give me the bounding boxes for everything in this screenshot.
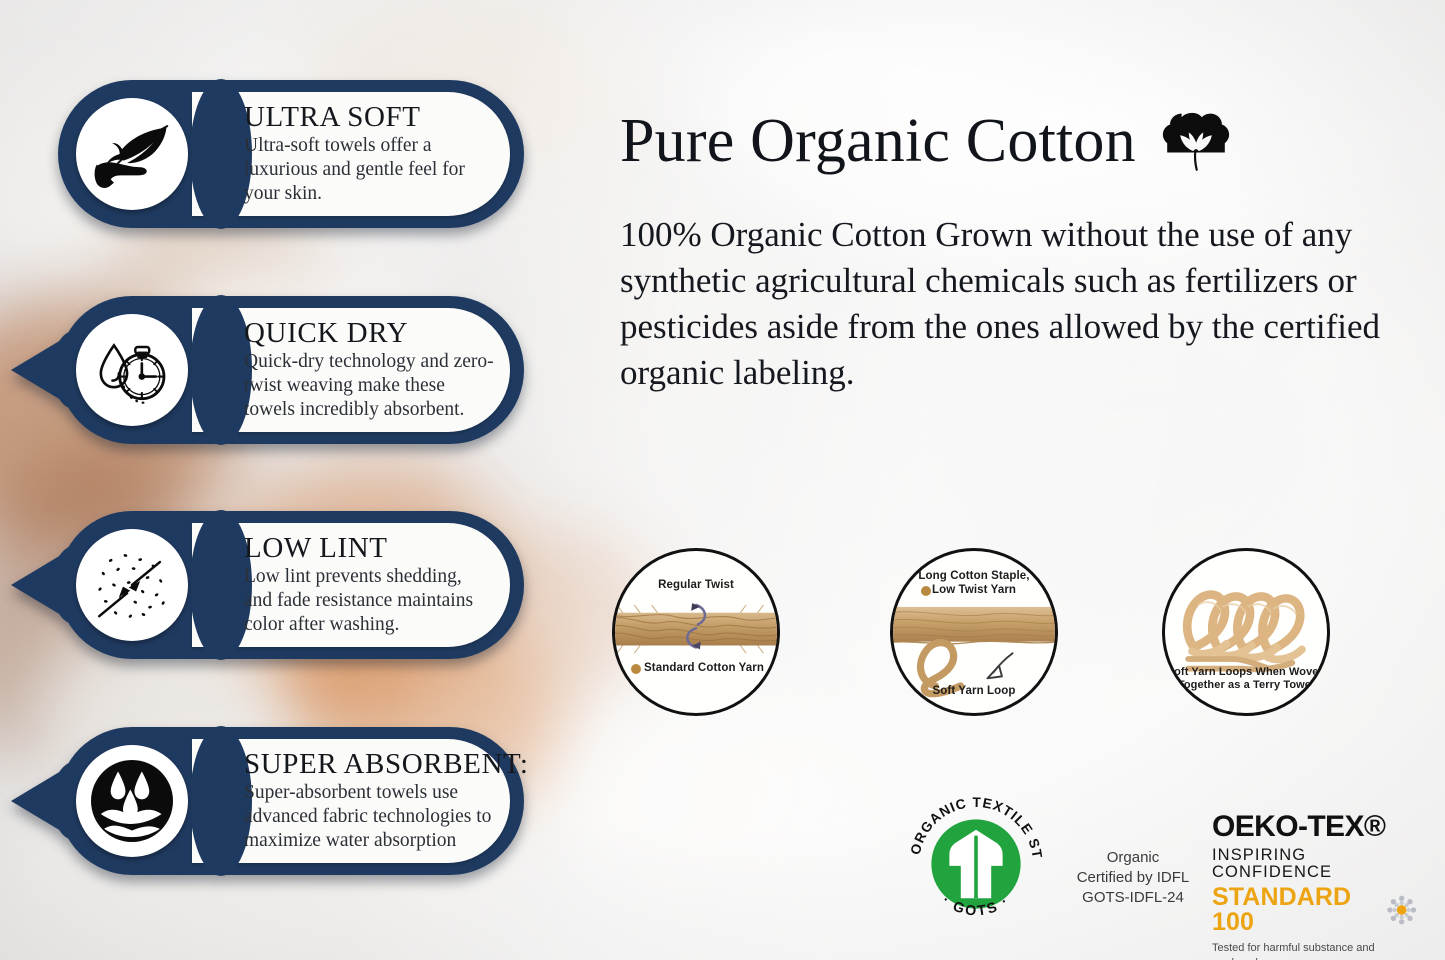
feature-card-shell: LOW LINT Low lint prevents shedding, and… <box>58 511 524 659</box>
oeko-subtitle: INSPIRING CONFIDENCE <box>1212 847 1417 880</box>
oeko-standard-row: STANDARD 100 <box>1212 885 1417 935</box>
oeko-standard-label: STANDARD 100 <box>1212 885 1386 935</box>
feature-card-shell: ULTRA SOFT Ultra-soft towels offer a lux… <box>58 80 524 228</box>
feature-title: QUICK DRY <box>244 318 494 348</box>
feather-in-hand-icon <box>76 98 188 210</box>
cotton-boll-icon <box>1158 105 1234 177</box>
feature-description: Ultra-soft towels offer a luxurious and … <box>244 134 494 206</box>
feature-description: Super-absorbent towels use advanced fabr… <box>244 781 494 853</box>
feature-card-shell: QUICK DRY Quick-dry technology and zero-… <box>58 296 524 444</box>
made-in-green-flower-icon <box>1386 893 1417 927</box>
feature-description: Quick-dry technology and zero-twist weav… <box>244 350 494 422</box>
gots-seal-icon: GLOBAL ORGANIC TEXTILE STANDARD · GOTS · <box>900 788 1052 940</box>
oeko-fine-line1: Tested for harmful substance and produce… <box>1212 941 1417 960</box>
page-title: Pure Organic Cotton <box>620 110 1136 172</box>
droplet-stopwatch-icon <box>76 314 188 426</box>
yarn-diagram-terry-loops: Soft Yarn Loops When Woven Together as a… <box>1162 548 1330 716</box>
yarn-bottom-label: Soft Yarn Loops When Woven Together as a… <box>1165 666 1327 693</box>
infographic-canvas: ULTRA SOFT Ultra-soft towels offer a lux… <box>0 0 1445 960</box>
lint-particles-arrows-icon <box>76 529 188 641</box>
yarn-bottom-label: Soft Yarn Loop <box>893 684 1055 698</box>
feature-card-panel: LOW LINT Low lint prevents shedding, and… <box>192 523 510 647</box>
yarn-top-label-line1: Long Cotton Staple, <box>893 569 1055 583</box>
feature-card-super-absorbent: SUPER ABSORBENT: Super-absorbent towels … <box>58 727 524 875</box>
feature-card-panel: ULTRA SOFT Ultra-soft towels offer a lux… <box>192 92 510 216</box>
gots-caption-line3: GOTS-IDFL-24 <box>1058 888 1208 908</box>
gots-certification-caption: Organic Certified by IDFL GOTS-IDFL-24 <box>1058 848 1208 907</box>
oeko-tex-badge: OEKO-TEX® INSPIRING CONFIDENCE STANDARD … <box>1212 812 1417 960</box>
yarn-diagram-row: Regular Twist Standard Cotton Yarn <box>612 548 1342 720</box>
feature-card-ultra-soft: ULTRA SOFT Ultra-soft towels offer a lux… <box>58 80 524 228</box>
oeko-title: OEKO-TEX® <box>1212 812 1417 842</box>
feature-card-panel: SUPER ABSORBENT: Super-absorbent towels … <box>192 739 510 863</box>
yarn-diagram-low-twist: Long Cotton Staple, Low Twist Yarn Soft … <box>890 548 1058 716</box>
yarn-top-label: Long Cotton Staple, Low Twist Yarn <box>893 569 1055 597</box>
oeko-fine-print: Tested for harmful substance and produce… <box>1212 941 1417 960</box>
feature-card-quick-dry: QUICK DRY Quick-dry technology and zero-… <box>58 296 524 444</box>
feature-description: Low lint prevents shedding, and fade res… <box>244 565 494 637</box>
feature-card-shell: SUPER ABSORBENT: Super-absorbent towels … <box>58 727 524 875</box>
feature-card-panel: QUICK DRY Quick-dry technology and zero-… <box>192 308 510 432</box>
gots-caption-line1: Organic <box>1058 848 1208 868</box>
feature-card-low-lint: LOW LINT Low lint prevents shedding, and… <box>58 511 524 659</box>
yarn-top-label: Regular Twist <box>615 578 777 592</box>
yarn-top-label-line2: Low Twist Yarn <box>893 583 1055 597</box>
yarn-diagram-regular-twist: Regular Twist Standard Cotton Yarn <box>612 548 780 716</box>
hero-headline-row: Pure Organic Cotton <box>620 105 1234 177</box>
feature-title: SUPER ABSORBENT: <box>244 749 494 779</box>
yarn-bottom-label-line1: Soft Yarn Loops When Woven <box>1165 666 1327 679</box>
water-drops-fabric-icon <box>76 745 188 857</box>
yarn-bottom-label: Standard Cotton Yarn <box>615 661 777 675</box>
hero-body-text: 100% Organic Cotton Grown without the us… <box>620 212 1410 395</box>
feature-title: LOW LINT <box>244 533 494 563</box>
yarn-bottom-label-line2: Together as a Terry Towel <box>1165 679 1327 692</box>
gots-caption-line2: Certified by IDFL <box>1058 868 1208 888</box>
feature-title: ULTRA SOFT <box>244 102 494 132</box>
